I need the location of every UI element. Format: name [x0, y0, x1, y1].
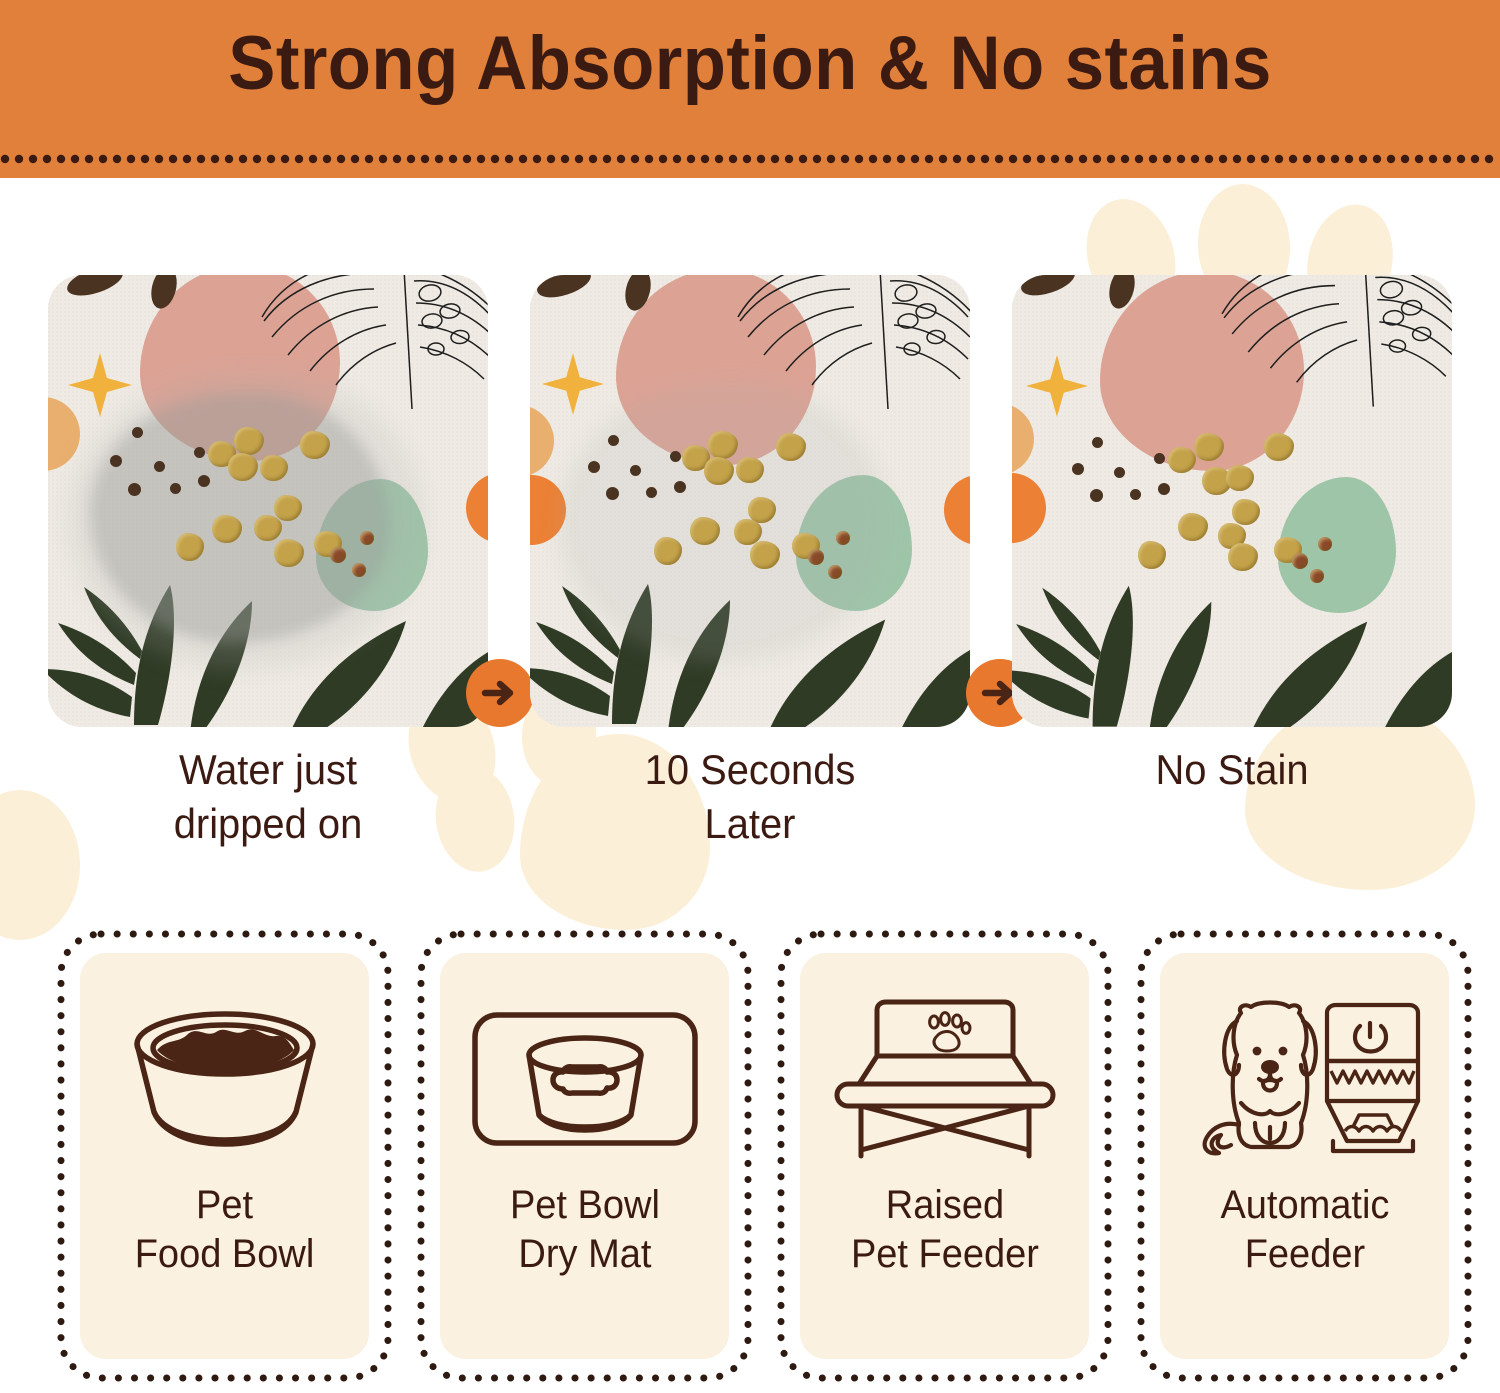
demo-caption-2-line1: 10 Seconds	[541, 743, 959, 797]
brown-speck	[110, 455, 122, 467]
monstera-leaf-lineart	[1214, 275, 1452, 427]
kibble-piece-dark	[808, 549, 824, 565]
brown-speck	[674, 481, 686, 493]
brown-speck	[1130, 489, 1141, 500]
dark-green-leaf-right	[1240, 575, 1452, 727]
brown-speck	[1114, 467, 1125, 478]
water-spill-halo	[66, 371, 426, 671]
kibble-piece-dark	[1310, 569, 1324, 583]
brown-speck	[606, 487, 619, 500]
brown-speck	[154, 461, 165, 472]
card-label-line1: Pet Bowl	[510, 1181, 660, 1230]
arrow-right-icon	[481, 674, 519, 712]
kibble-piece-dark	[828, 565, 842, 579]
demo-caption-1: Water just dripped on	[59, 743, 477, 851]
demo-caption-2-line2: Later	[541, 797, 959, 851]
brown-speck	[588, 461, 600, 473]
brown-speck	[194, 447, 205, 458]
demo-caption-1-line2: dripped on	[59, 797, 477, 851]
kibble-piece-dark	[836, 531, 850, 545]
kibble-piece-dark	[352, 563, 366, 577]
kibble-piece-dark	[330, 547, 346, 563]
card-label-line2: Pet Feeder	[850, 1230, 1038, 1279]
yellow-star-icon	[1026, 355, 1088, 417]
brown-speck	[1092, 437, 1103, 448]
use-case-card-raised-pet-feeder[interactable]: Raised Pet Feeder	[772, 925, 1117, 1387]
card-inner-panel: Raised Pet Feeder	[800, 953, 1089, 1359]
raised-pet-feeder-icon	[831, 991, 1059, 1167]
brown-speck	[198, 475, 210, 487]
header-dotted-divider	[0, 154, 1500, 164]
use-case-card-automatic-feeder[interactable]: Automatic Feeder	[1132, 925, 1477, 1387]
card-label-line2: Food Bowl	[135, 1230, 315, 1279]
card-label-line1: Automatic	[1220, 1181, 1389, 1230]
brown-speck	[670, 451, 681, 462]
kibble-piece-dark	[360, 531, 374, 545]
demo-photo-step-3	[1012, 275, 1452, 727]
card-label-line2: Dry Mat	[510, 1230, 660, 1279]
kibble-piece-dark	[1292, 553, 1308, 569]
card-label-line2: Feeder	[1220, 1230, 1389, 1279]
absorption-demo-section: Water just dripped on 10 Seconds Later N…	[0, 178, 1500, 908]
residual-damp-area	[558, 383, 888, 663]
demo-caption-2: 10 Seconds Later	[541, 743, 959, 851]
demo-caption-1-line1: Water just	[59, 743, 477, 797]
arrow-step-1-to-2	[466, 659, 534, 727]
brown-speck	[608, 435, 619, 446]
card-inner-panel: Pet Food Bowl	[80, 953, 369, 1359]
use-case-cards-section: Pet Food Bowl	[0, 925, 1500, 1393]
card-label-pet-food-bowl: Pet Food Bowl	[135, 1181, 315, 1279]
yellow-star-icon	[68, 353, 132, 417]
use-case-card-pet-food-bowl[interactable]: Pet Food Bowl	[52, 925, 397, 1387]
demo-photo-step-1	[48, 275, 488, 727]
brown-speck	[1072, 463, 1084, 475]
automatic-feeder-icon	[1181, 991, 1429, 1167]
brown-speck	[646, 487, 657, 498]
card-label-raised-pet-feeder: Raised Pet Feeder	[850, 1181, 1038, 1279]
card-label-line1: Raised	[850, 1181, 1038, 1230]
card-inner-panel: Automatic Feeder	[1160, 953, 1449, 1359]
brown-speck	[128, 483, 141, 496]
brown-speck	[1154, 453, 1165, 464]
card-label-automatic-feeder: Automatic Feeder	[1220, 1181, 1389, 1279]
brown-speck	[630, 465, 641, 476]
kibble-piece-dark	[1318, 537, 1332, 551]
use-case-card-pet-bowl-dry-mat[interactable]: Pet Bowl Dry Mat	[412, 925, 757, 1387]
card-label-pet-bowl-dry-mat: Pet Bowl Dry Mat	[510, 1181, 660, 1279]
card-label-line1: Pet	[135, 1181, 315, 1230]
demo-photo-step-2	[530, 275, 970, 727]
header-banner: Strong Absorption & No stains	[0, 0, 1500, 178]
brown-speck	[1158, 483, 1170, 495]
pet-food-bowl-icon	[118, 991, 332, 1167]
yellow-star-icon	[542, 353, 604, 415]
demo-caption-3: No Stain	[1023, 743, 1441, 797]
demo-caption-3-line1: No Stain	[1023, 743, 1441, 797]
pet-bowl-dry-mat-icon	[471, 991, 699, 1167]
page-title: Strong Absorption & No stains	[53, 26, 1448, 102]
brown-speck	[170, 483, 181, 494]
brown-speck	[1090, 489, 1103, 502]
card-inner-panel: Pet Bowl Dry Mat	[440, 953, 729, 1359]
brown-speck	[132, 427, 143, 438]
